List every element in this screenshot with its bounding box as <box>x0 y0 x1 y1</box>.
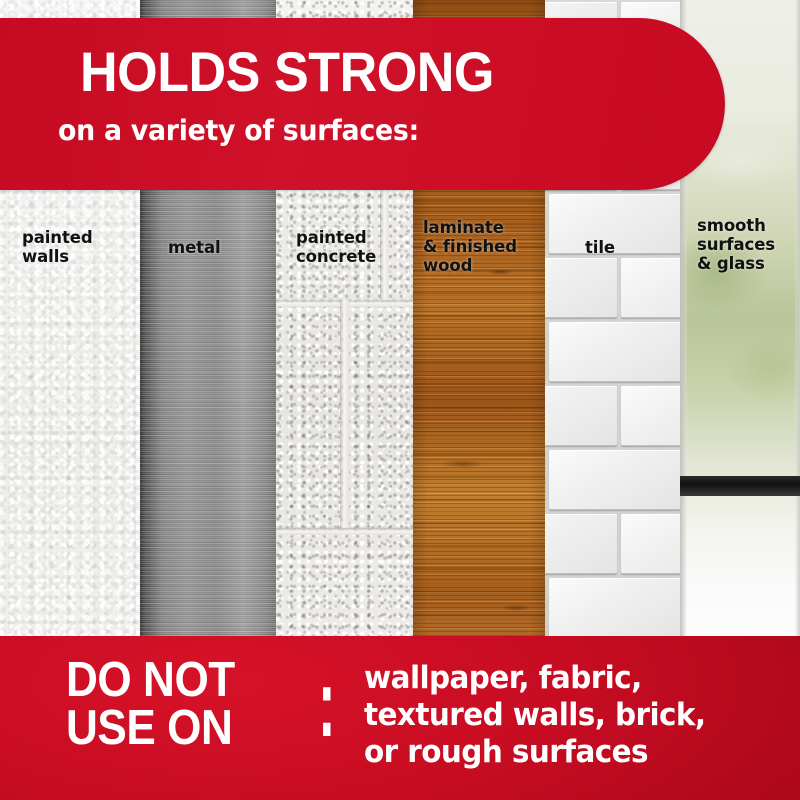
tile-unit <box>621 386 680 446</box>
tile-unit <box>549 578 680 638</box>
surface-label-painted-walls: painted walls <box>22 228 93 266</box>
do-not-use-colon: : <box>318 657 336 753</box>
concrete-mortar-joint <box>340 300 349 528</box>
do-not-use-on-label: DO NOT USE ON <box>66 656 235 752</box>
tile-unit <box>621 258 680 318</box>
glass-frame-crossbar <box>680 476 800 496</box>
surface-label-glass: smooth surfaces & glass <box>697 216 775 273</box>
tile-unit <box>545 386 617 446</box>
tile-unit <box>545 258 617 318</box>
headline-holds-strong: HOLDS STRONG <box>80 44 494 100</box>
tile-unit <box>549 450 680 510</box>
surface-compatibility-poster: painted walls metal painted concrete lam… <box>0 0 800 800</box>
tile-unit <box>549 322 680 382</box>
surface-label-metal: metal <box>168 238 221 257</box>
do-not-use-surface-list: wallpaper, fabric, textured walls, brick… <box>364 660 706 771</box>
concrete-mortar-joint <box>276 528 413 535</box>
surface-label-tile: tile <box>585 238 615 257</box>
tile-unit <box>621 514 680 574</box>
surface-label-wood: laminate & finished wood <box>423 218 517 275</box>
tile-unit <box>545 514 617 574</box>
surface-label-painted-concrete: painted concrete <box>296 228 376 266</box>
subheadline-variety-of-surfaces: on a variety of surfaces: <box>58 117 419 146</box>
